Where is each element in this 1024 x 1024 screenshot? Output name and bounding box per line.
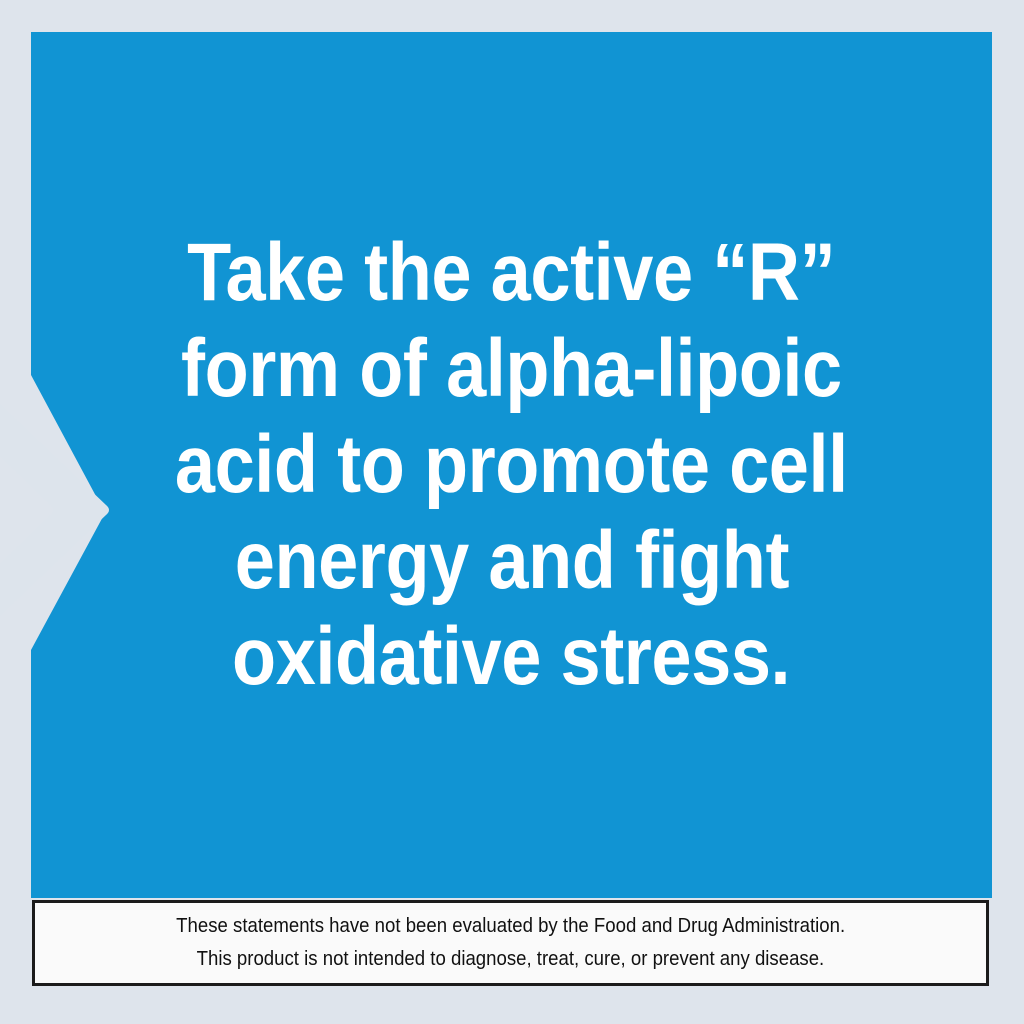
promo-card: Take the active “R” form of alpha-lipoic… xyxy=(0,0,1024,1024)
disclaimer-box: These statements have not been evaluated… xyxy=(32,900,989,986)
disclaimer-line-1: These statements have not been evaluated… xyxy=(176,910,845,943)
chevron-right-icon xyxy=(0,360,112,660)
headline-panel xyxy=(31,32,992,898)
disclaimer-line-2: This product is not intended to diagnose… xyxy=(197,943,825,976)
